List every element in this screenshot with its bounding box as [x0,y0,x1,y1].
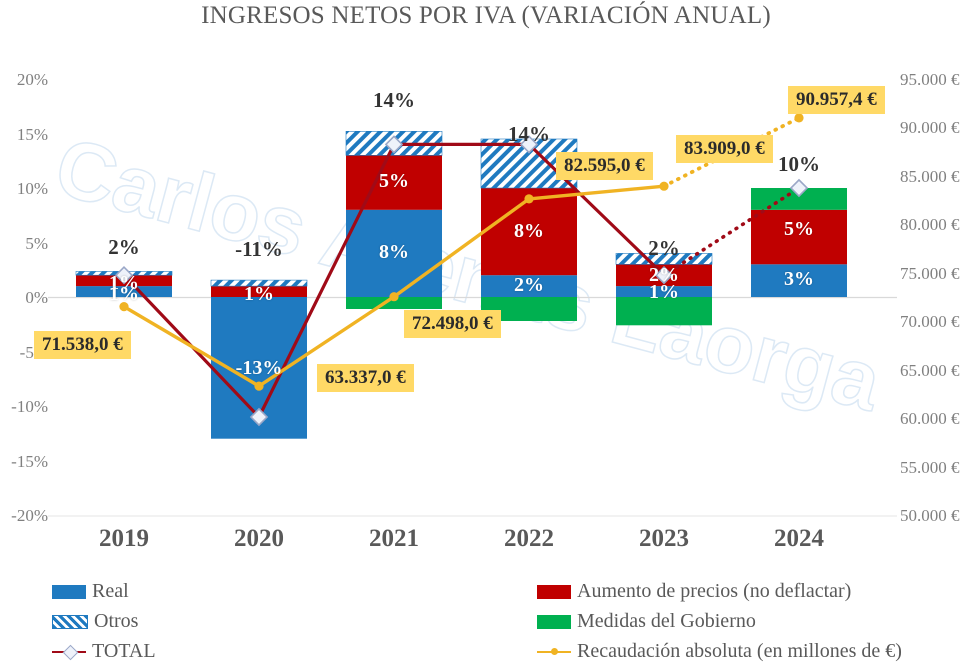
recaudacion-callout-2022: 82.595,0 € [556,152,653,180]
recaudacion-callout-2020: 63.337,0 € [317,364,414,392]
bar-group-2021 [346,131,442,309]
legend-item-otros[interactable]: Otros [52,610,138,633]
legend-item-precios[interactable]: Aumento de precios (no deflactar) [537,580,851,603]
segment-label-real-2022: 2% [481,274,577,297]
plot-area: 20% 15% 10% 5% 0% -5% -10% -15% -20% 95.… [0,0,972,665]
x-axis-label-2022: 2022 [481,525,577,553]
legend-swatch-real-icon [52,585,86,599]
legend-swatch-recaudacion-icon [537,645,571,659]
segment-label-precios-2020: 1% [211,283,307,306]
x-axis-label-2019: 2019 [76,525,172,553]
total-label-2022: 14% [481,122,577,147]
total-label-2019: 2% [76,235,172,260]
legend-swatch-medidas-icon [537,615,571,629]
legend-item-real[interactable]: Real [52,580,129,603]
chart-container: INGRESOS NETOS POR IVA (VARIACIÓN ANUAL)… [0,0,972,665]
segment-label-precios-2021: 5% [346,170,442,193]
segment-label-precios-2024: 5% [751,218,847,241]
segment-label-real-2019: 1% [76,283,172,306]
legend-label-precios: Aumento de precios (no deflactar) [577,580,851,603]
legend-label-otros: Otros [94,610,138,633]
total-label-2020: -11% [205,237,313,262]
recaudacion-callout-2019: 71.538,0 € [34,331,131,359]
legend-label-total: TOTAL [92,640,156,663]
legend-item-medidas[interactable]: Medidas del Gobierno [537,610,756,633]
segment-label-real-2023: 1% [616,281,712,304]
x-axis-label-2024: 2024 [751,525,847,553]
legend-swatch-otros-icon [52,615,88,629]
legend-item-total[interactable]: TOTAL [52,640,156,663]
legend-item-recaudacion[interactable]: Recaudación absoluta (en millones de €) [537,640,902,663]
segment-label-real-2021: 8% [346,241,442,264]
x-axis-label-2023: 2023 [616,525,712,553]
x-axis-label-2020: 2020 [211,525,307,553]
legend-label-recaudacion: Recaudación absoluta (en millones de €) [577,640,902,663]
segment-label-precios-2022: 8% [481,220,577,243]
legend-label-real: Real [92,580,129,603]
recaudacion-callout-2024: 90.957,4 € [788,86,885,114]
total-label-2021: 14% [346,88,442,113]
total-label-2023: 2% [616,236,712,261]
segment-label-real-2020: -13% [211,357,307,380]
legend-swatch-total-icon [52,645,86,659]
legend-label-medidas: Medidas del Gobierno [577,610,756,633]
recaudacion-callout-2023: 83.909,0 € [676,135,773,163]
segment-label-real-2024: 3% [751,268,847,291]
x-axis-label-2021: 2021 [346,525,442,553]
recaudacion-callout-2021: 72.498,0 € [404,310,501,338]
chart-legend: Real Aumento de precios (no deflactar) O… [0,575,972,665]
legend-swatch-precios-icon [537,585,571,599]
